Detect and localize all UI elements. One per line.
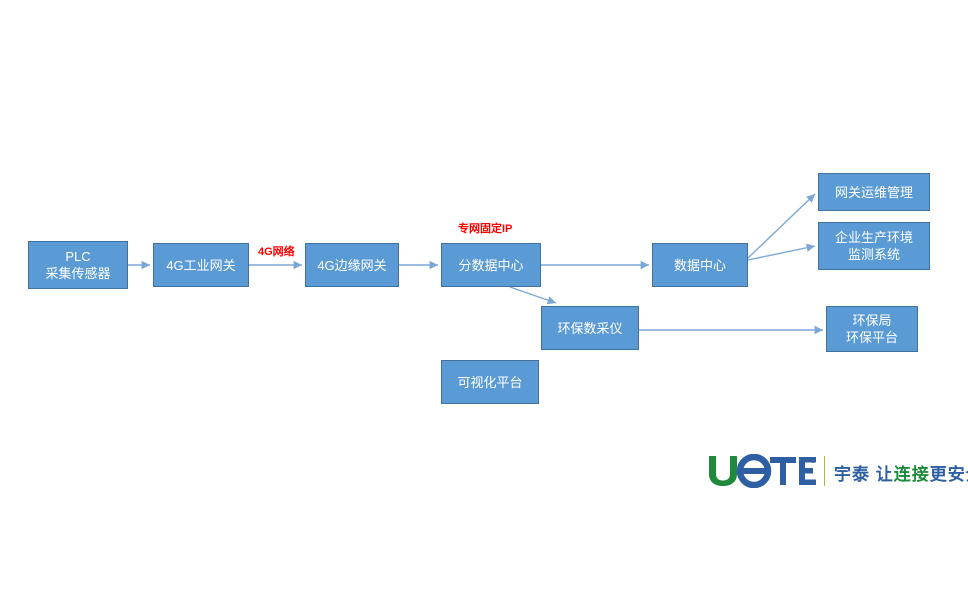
- uotek-wordmark-icon: [706, 454, 816, 488]
- uotek-logo: ® 宇泰 让连接更安全: [706, 452, 941, 500]
- connector-subcenter-to-envsample: [510, 287, 556, 303]
- label-4g-network: 4G网络: [258, 243, 295, 259]
- logo-slogan: 宇泰 让连接更安全: [834, 460, 968, 485]
- node-gateway-ops-management[interactable]: 网关运维管理: [818, 173, 930, 211]
- node-visualization-platform[interactable]: 可视化平台: [441, 360, 539, 404]
- diagram-canvas: PLC 采集传感器 4G工业网关 4G边缘网关 分数据中心 数据中心 网关运维管…: [0, 0, 968, 600]
- node-4g-industrial-gateway[interactable]: 4G工业网关: [153, 243, 249, 287]
- node-env-bureau-platform[interactable]: 环保局 环保平台: [826, 306, 918, 352]
- registered-mark: ®: [810, 456, 816, 465]
- node-env-data-sampler[interactable]: 环保数采仪: [541, 306, 639, 350]
- node-sub-data-center[interactable]: 分数据中心: [441, 243, 541, 287]
- node-enterprise-env-monitoring-system[interactable]: 企业生产环境 监测系统: [818, 222, 930, 270]
- slogan-suffix: 更安全: [930, 465, 968, 484]
- connector-layer: [0, 0, 968, 600]
- node-plc[interactable]: PLC 采集传感器: [28, 241, 128, 289]
- label-dedicated-fixed-ip: 专网固定IP: [458, 220, 512, 236]
- node-4g-edge-gateway[interactable]: 4G边缘网关: [305, 243, 399, 287]
- logo-divider: [824, 456, 825, 486]
- node-data-center[interactable]: 数据中心: [652, 243, 748, 287]
- slogan-prefix: 宇泰 让: [834, 465, 894, 484]
- slogan-accent: 连接: [894, 465, 930, 484]
- connector-datacenter-to-opsmgmt: [748, 194, 815, 258]
- connector-datacenter-to-envsys: [748, 246, 815, 260]
